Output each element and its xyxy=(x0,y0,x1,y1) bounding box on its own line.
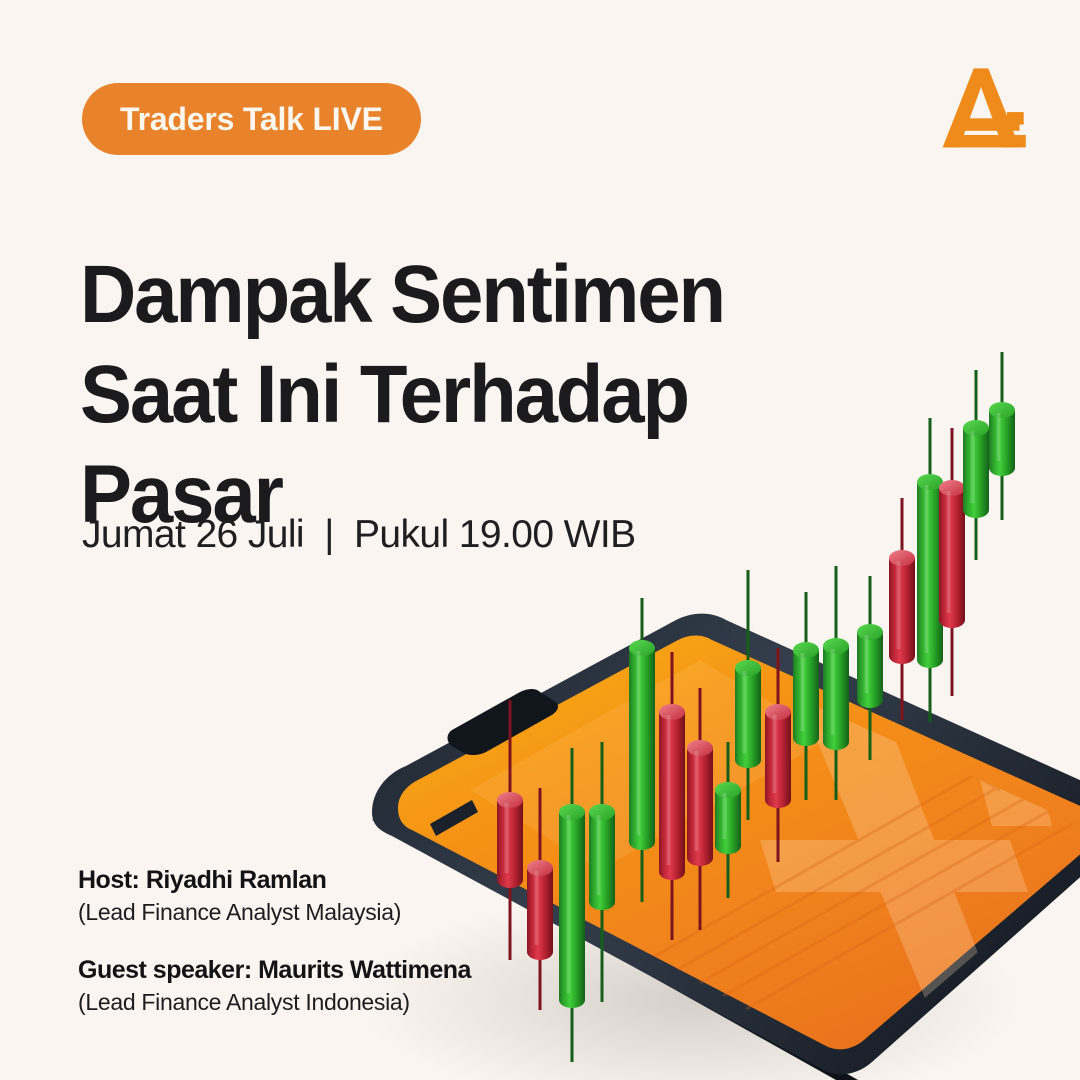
candlestick-bull xyxy=(589,742,615,1002)
candlestick-bear xyxy=(659,652,685,940)
promo-poster: Traders Talk LIVE Dampak Sentimen Saat I… xyxy=(0,0,1080,1080)
candlestick-bear xyxy=(939,428,965,696)
anugerah-a-logo-icon xyxy=(928,58,1032,162)
candlestick-bull xyxy=(559,748,585,1062)
credit-host-name: Host: Riyadhi Ramlan xyxy=(78,866,471,895)
credit-host-role: (Lead Finance Analyst Malaysia) xyxy=(78,899,471,926)
credit-guest-role: (Lead Finance Analyst Indonesia) xyxy=(78,989,471,1016)
schedule-time: Pukul 19.00 WIB xyxy=(354,513,635,556)
smartphone-illustration xyxy=(372,612,1080,1080)
credit-guest-name: Guest speaker: Maurits Wattimena xyxy=(78,956,471,985)
candlestick-bull xyxy=(917,418,943,722)
page-title: Dampak Sentimen Saat Ini Terhadap Pasar xyxy=(80,245,783,545)
candlestick-bear xyxy=(765,648,791,862)
live-badge: Traders Talk LIVE xyxy=(82,83,421,155)
credit-guest: Guest speaker: Maurits Wattimena (Lead F… xyxy=(78,956,471,1016)
candlestick-bull xyxy=(735,570,761,820)
schedule-line: Jumat 26 Juli | Pukul 19.00 WIB xyxy=(82,513,636,557)
headline-line-2: Saat Ini Terhadap xyxy=(80,345,783,445)
candlestick-bull xyxy=(793,592,819,800)
live-badge-label: Traders Talk LIVE xyxy=(120,101,383,138)
credit-host: Host: Riyadhi Ramlan (Lead Finance Analy… xyxy=(78,866,471,926)
speaker-credits: Host: Riyadhi Ramlan (Lead Finance Analy… xyxy=(78,866,471,1016)
candlestick-bull xyxy=(823,566,849,800)
candlestick-bull xyxy=(989,352,1015,520)
candlestick-bull xyxy=(963,370,989,560)
candlestick-bear xyxy=(497,700,523,960)
candlestick-bear xyxy=(527,788,553,1010)
candlestick-bull xyxy=(715,742,741,898)
candlestick-bear xyxy=(687,688,713,930)
schedule-date: Jumat 26 Juli xyxy=(82,513,304,556)
candlestick-bull xyxy=(857,576,883,760)
candlestick-bull xyxy=(629,598,655,902)
headline-line-1: Dampak Sentimen xyxy=(80,245,783,345)
schedule-separator: | xyxy=(324,513,334,557)
candlestick-bear xyxy=(889,498,915,720)
